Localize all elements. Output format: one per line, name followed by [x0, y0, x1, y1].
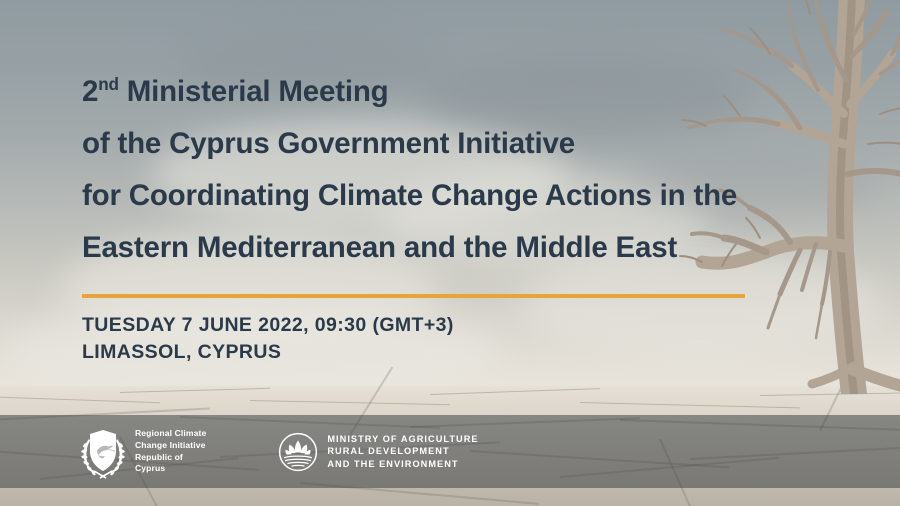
- logo-regional-climate-change-initiative: Regional Climate Change Initiative Repub…: [80, 425, 206, 479]
- headline-line-3: for Coordinating Climate Change Actions …: [82, 170, 782, 222]
- page-title: 2nd Ministerial Meeting of the Cyprus Go…: [82, 66, 782, 274]
- rci-line-2: Change Initiative: [135, 440, 206, 452]
- ministry-line-1: MINISTRY OF AGRICULTURE: [327, 433, 478, 445]
- ministry-line-2: RURAL DEVELOPMENT: [327, 445, 478, 457]
- headline-line-1-rest: Ministerial Meeting: [119, 75, 389, 108]
- event-details: TUESDAY 7 JUNE 2022, 09:30 (GMT+3) LIMAS…: [82, 312, 454, 366]
- rci-line-4: Cyprus: [135, 463, 206, 475]
- logo-ministry-of-agriculture: MINISTRY OF AGRICULTURE RURAL DEVELOPMEN…: [278, 432, 478, 472]
- cyprus-coat-of-arms-emblem: [80, 425, 126, 479]
- headline-line-1: 2nd Ministerial Meeting: [82, 66, 782, 118]
- headline-ordinal-suffix: nd: [98, 75, 119, 94]
- headline-line-4: Eastern Mediterranean and the Middle Eas…: [82, 222, 782, 274]
- event-banner: 2nd Ministerial Meeting of the Cyprus Go…: [0, 0, 900, 506]
- event-location: LIMASSOL, CYPRUS: [82, 339, 454, 366]
- rci-line-3: Republic of: [135, 452, 206, 464]
- event-datetime: TUESDAY 7 JUNE 2022, 09:30 (GMT+3): [82, 312, 454, 339]
- regional-climate-initiative-text: Regional Climate Change Initiative Repub…: [135, 428, 206, 474]
- ministry-text: MINISTRY OF AGRICULTURE RURAL DEVELOPMEN…: [327, 433, 478, 470]
- footer-bar: Regional Climate Change Initiative Repub…: [0, 415, 900, 488]
- headline-ordinal-number: 2: [82, 75, 98, 108]
- ministry-leaf-field-emblem: [278, 432, 318, 472]
- accent-divider: [82, 294, 745, 298]
- headline-line-2: of the Cyprus Government Initiative: [82, 118, 782, 170]
- rci-line-1: Regional Climate: [135, 428, 206, 440]
- ministry-line-3: AND THE ENVIRONMENT: [327, 458, 478, 470]
